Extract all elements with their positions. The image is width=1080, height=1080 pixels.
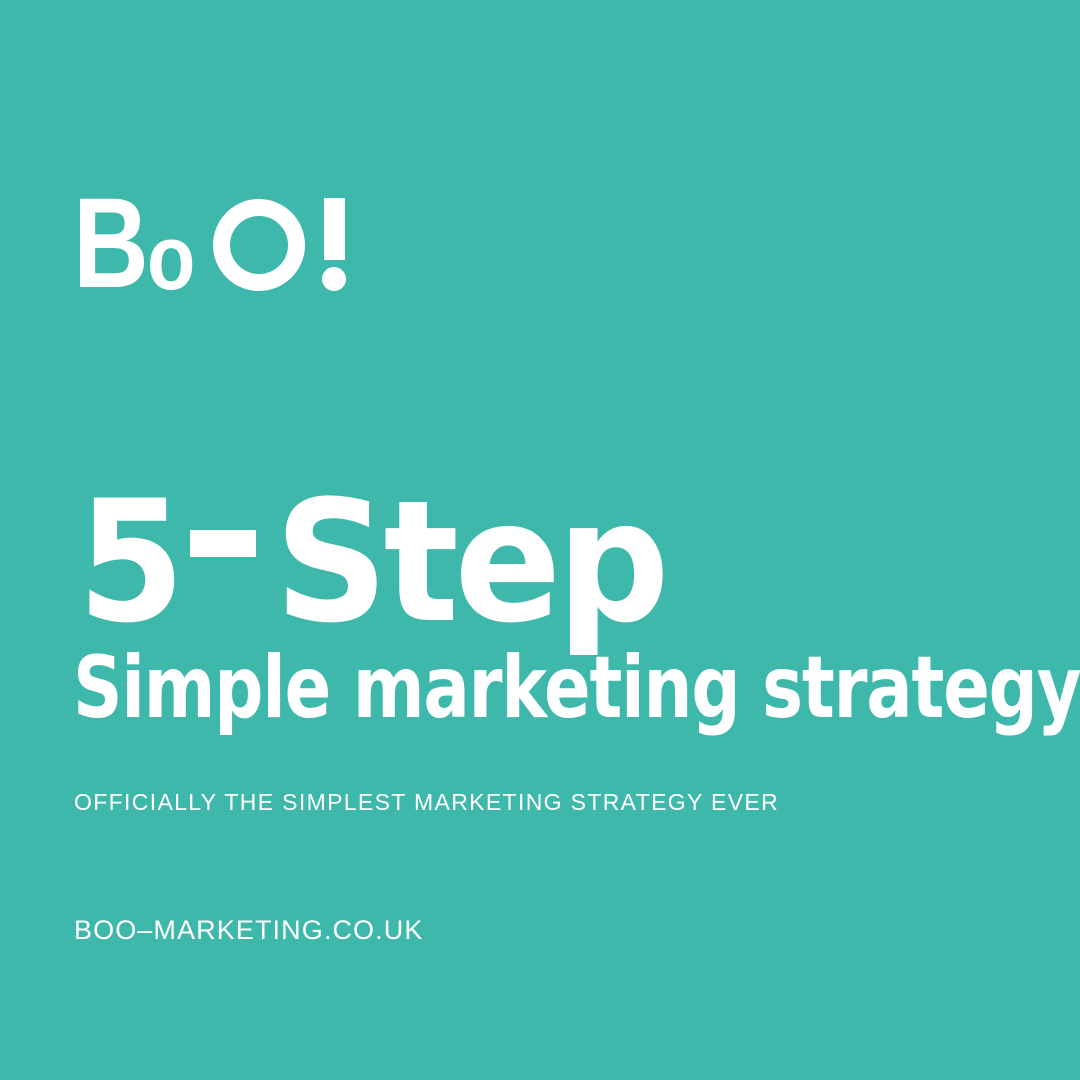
brand-logo[interactable]: B o — [73, 196, 345, 292]
logo-letter-o-small: o — [147, 224, 195, 292]
logo-exclamation-icon — [324, 198, 345, 291]
exclamation-dot — [322, 267, 346, 291]
logo-letter-b: B — [73, 197, 147, 292]
logo-ring-o-icon — [213, 199, 305, 291]
headline-word: Step — [274, 478, 665, 646]
headline-number: 5 — [78, 478, 182, 646]
headline: 5 Step — [73, 478, 677, 646]
website-url[interactable]: BOO–MARKETING.CO.UK — [74, 917, 423, 944]
headline-dash-icon — [190, 530, 256, 557]
subheadline: Simple marketing strategy. — [73, 645, 1080, 731]
exclamation-bar — [324, 198, 345, 260]
tagline: OFFICIALLY THE SIMPLEST MARKETING STRATE… — [74, 791, 779, 814]
promotional-poster: B o 5 Step Simple marketing strategy. OF… — [0, 0, 1080, 1080]
